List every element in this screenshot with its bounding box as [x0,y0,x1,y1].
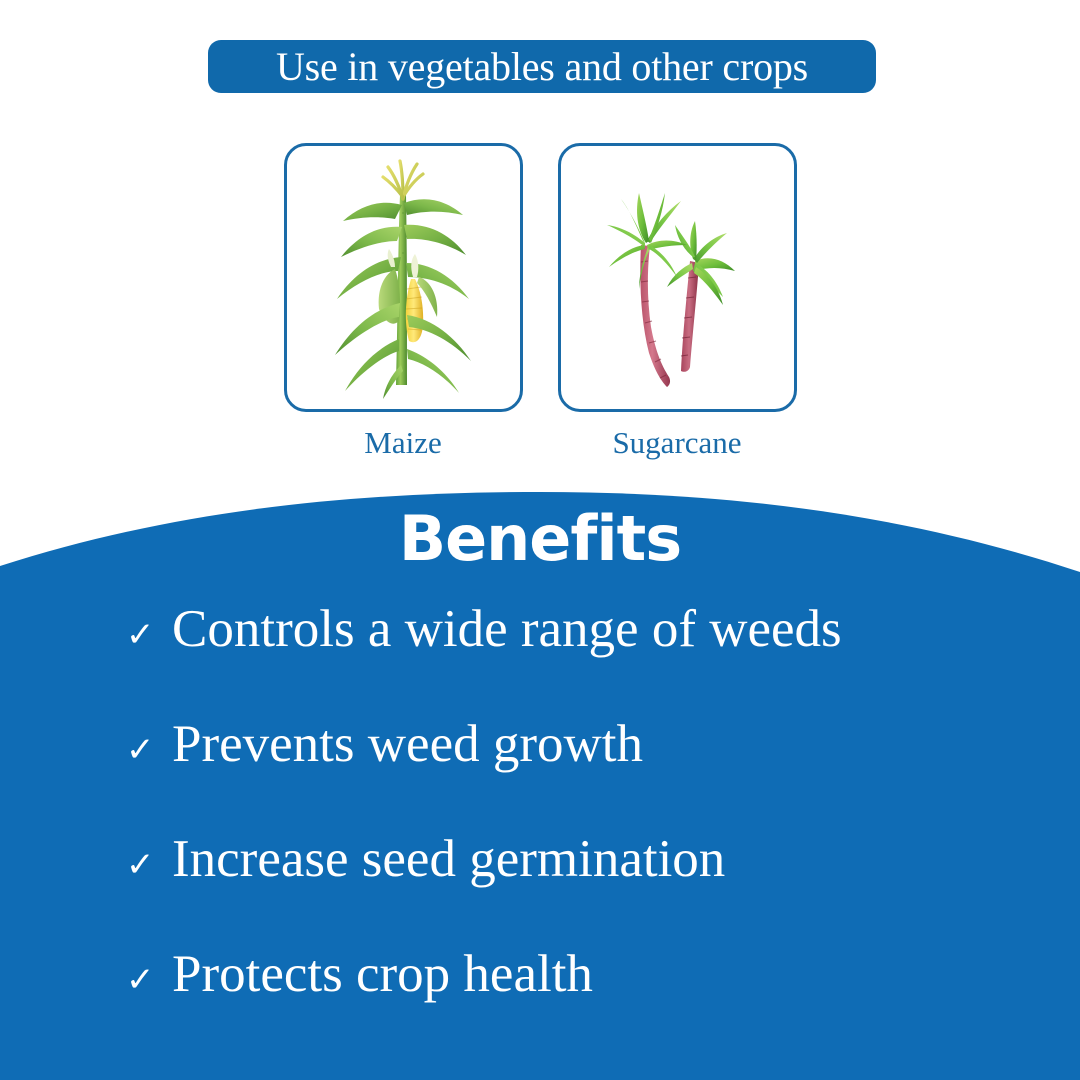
benefit-list-item: ✓ Prevents weed growth [0,718,1080,833]
crop-card-sugarcane[interactable] [558,143,797,412]
benefit-text: Increase seed germination [172,833,725,886]
benefits-list: ✓ Controls a wide range of weeds ✓ Preve… [0,603,1080,1063]
benefit-text: Prevents weed growth [172,718,643,771]
crop-card-maize[interactable] [284,143,523,412]
header-banner: Use in vegetables and other crops [208,40,876,93]
benefit-text: Controls a wide range of weeds [172,603,842,656]
benefit-text: Protects crop health [172,948,593,1001]
maize-plant-icon [303,153,503,403]
sugarcane-plant-icon [577,153,777,403]
check-icon: ✓ [126,618,172,652]
crop-label-maize: Maize [364,427,441,458]
check-icon: ✓ [126,963,172,997]
crop-item-maize[interactable]: Maize [284,143,523,458]
crop-label-sugarcane: Sugarcane [612,427,741,458]
check-icon: ✓ [126,733,172,767]
benefit-list-item: ✓ Controls a wide range of weeds [0,603,1080,718]
check-icon: ✓ [126,848,172,882]
benefits-heading: Benefits [0,508,1080,570]
benefit-list-item: ✓ Increase seed germination [0,833,1080,948]
page-title: Use in vegetables and other crops [276,47,808,87]
benefit-list-item: ✓ Protects crop health [0,948,1080,1063]
crop-item-sugarcane[interactable]: Sugarcane [558,143,797,458]
crop-card-list: Maize [0,143,1080,458]
crops-section: Use in vegetables and other crops [0,0,1080,500]
